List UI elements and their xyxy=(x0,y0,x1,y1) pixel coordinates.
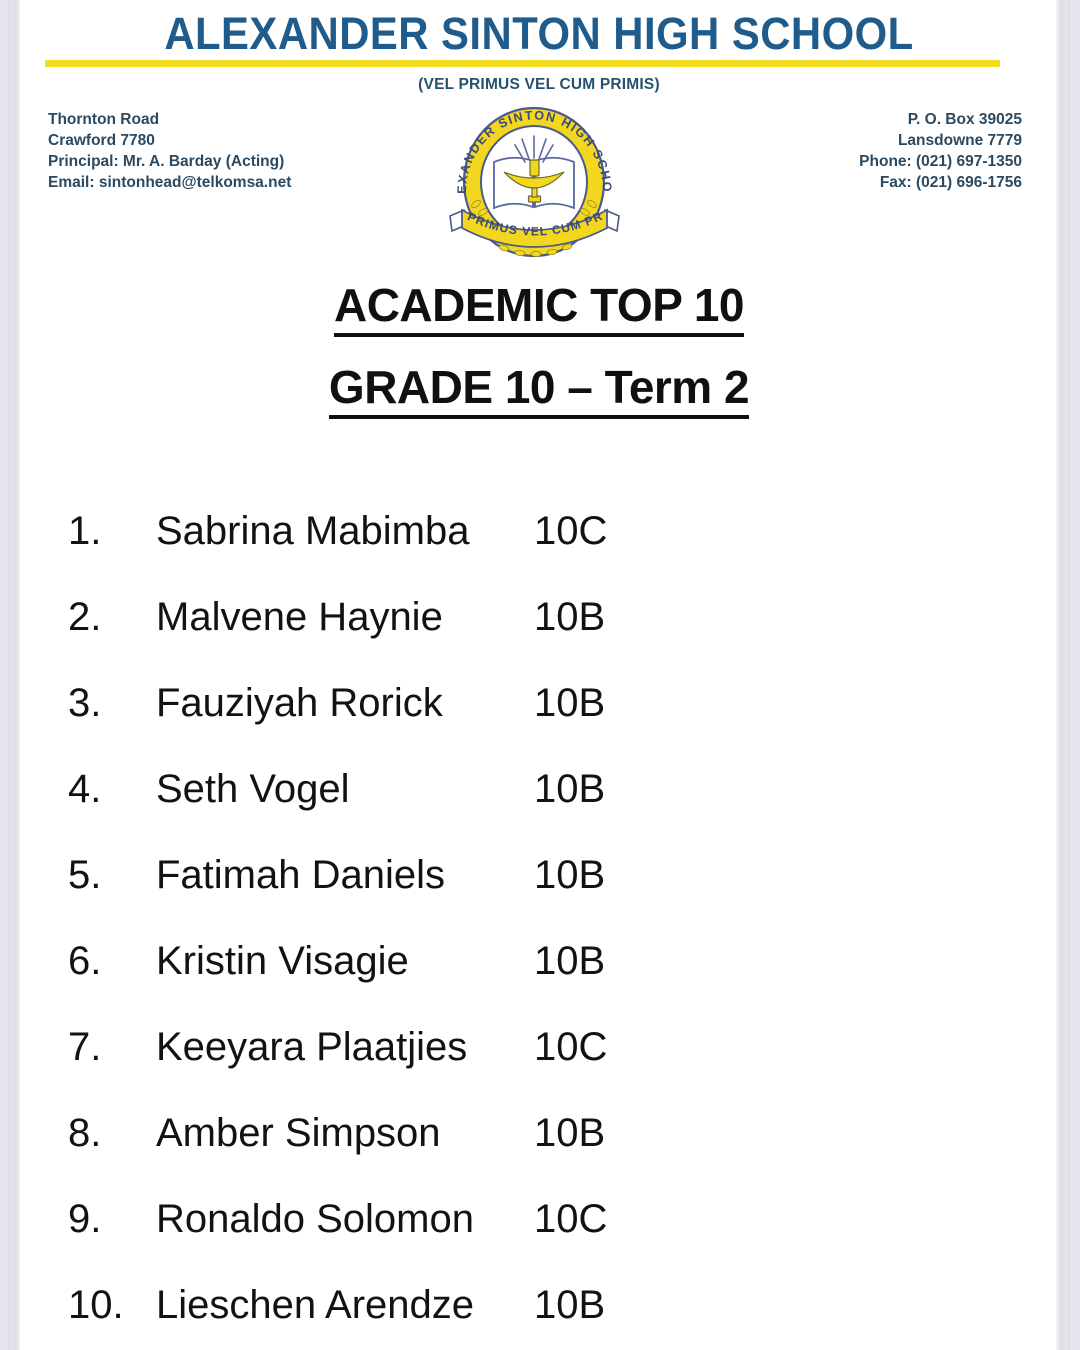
class-code: 10B xyxy=(534,675,605,731)
rank-number: 1. xyxy=(68,503,140,559)
student-name: Seth Vogel xyxy=(156,761,350,817)
rank-number: 2. xyxy=(68,589,140,645)
class-code: 10B xyxy=(534,1277,605,1333)
top-ten-list: 1. Sabrina Mabimba 10C 2. Malvene Haynie… xyxy=(10,503,1068,1350)
rank-number: 10. xyxy=(68,1277,140,1333)
student-name: Keeyara Plaatjies xyxy=(156,1019,467,1075)
rank-number: 9. xyxy=(68,1191,140,1247)
student-name: Fauziyah Rorick xyxy=(156,675,443,731)
rank-number: 8. xyxy=(68,1105,140,1161)
student-name: Malvene Haynie xyxy=(156,589,443,645)
page-title-text: ACADEMIC TOP 10 xyxy=(334,279,744,337)
principal-line: Principal: Mr. A. Barday (Acting) xyxy=(48,151,291,172)
page-subtitle: GRADE 10 – Term 2 xyxy=(10,360,1068,414)
page-title: ACADEMIC TOP 10 xyxy=(10,278,1068,332)
school-crest-logo: ALEXANDER SINTON HIGH SCHOOL xyxy=(442,100,627,265)
address-line: Thornton Road xyxy=(48,109,291,130)
list-item: 5. Fatimah Daniels 10B xyxy=(10,847,1068,933)
suburb-line: Lansdowne 7779 xyxy=(859,130,1022,151)
list-item: 8. Amber Simpson 10B xyxy=(10,1105,1068,1191)
school-name-heading: ALEXANDER SINTON HIGH SCHOOL xyxy=(47,8,1031,60)
rank-number: 4. xyxy=(68,761,140,817)
gold-divider-rule xyxy=(45,60,1000,67)
rank-number: 3. xyxy=(68,675,140,731)
class-code: 10B xyxy=(534,1105,605,1161)
address-block-left: Thornton Road Crawford 7780 Principal: M… xyxy=(48,109,291,193)
student-name: Lieschen Arendze xyxy=(156,1277,474,1333)
class-code: 10B xyxy=(534,761,605,817)
class-code: 10B xyxy=(534,847,605,903)
list-item: 7. Keeyara Plaatjies 10C xyxy=(10,1019,1068,1105)
student-name: Ronaldo Solomon xyxy=(156,1191,474,1247)
address-line: Crawford 7780 xyxy=(48,130,291,151)
class-code: 10C xyxy=(534,1019,607,1075)
list-item: 1. Sabrina Mabimba 10C xyxy=(10,503,1068,589)
contact-block-right: P. O. Box 39025 Lansdowne 7779 Phone: (0… xyxy=(859,109,1022,193)
rank-number: 7. xyxy=(68,1019,140,1075)
class-code: 10B xyxy=(534,933,605,989)
student-name: Kristin Visagie xyxy=(156,933,409,989)
class-code: 10C xyxy=(534,1191,607,1247)
email-line: Email: sintonhead@telkomsa.net xyxy=(48,172,291,193)
rank-number: 5. xyxy=(68,847,140,903)
document-page: ALEXANDER SINTON HIGH SCHOOL (VEL PRIMUS… xyxy=(10,0,1068,1350)
phone-line: Phone: (021) 697-1350 xyxy=(859,151,1022,172)
page-subtitle-text: GRADE 10 – Term 2 xyxy=(329,361,749,419)
student-name: Fatimah Daniels xyxy=(156,847,445,903)
list-item: 9. Ronaldo Solomon 10C xyxy=(10,1191,1068,1277)
school-motto: (VEL PRIMUS VEL CUM PRIMIS) xyxy=(10,76,1068,94)
student-name: Amber Simpson xyxy=(156,1105,441,1161)
list-item: 6. Kristin Visagie 10B xyxy=(10,933,1068,1019)
list-item: 10. Lieschen Arendze 10B xyxy=(10,1277,1068,1350)
fax-line: Fax: (021) 696-1756 xyxy=(859,172,1022,193)
list-item: 3. Fauziyah Rorick 10B xyxy=(10,675,1068,761)
list-item: 4. Seth Vogel 10B xyxy=(10,761,1068,847)
rank-number: 6. xyxy=(68,933,140,989)
class-code: 10C xyxy=(534,503,607,559)
student-name: Sabrina Mabimba xyxy=(156,503,470,559)
list-item: 2. Malvene Haynie 10B xyxy=(10,589,1068,675)
class-code: 10B xyxy=(534,589,605,645)
po-box-line: P. O. Box 39025 xyxy=(859,109,1022,130)
